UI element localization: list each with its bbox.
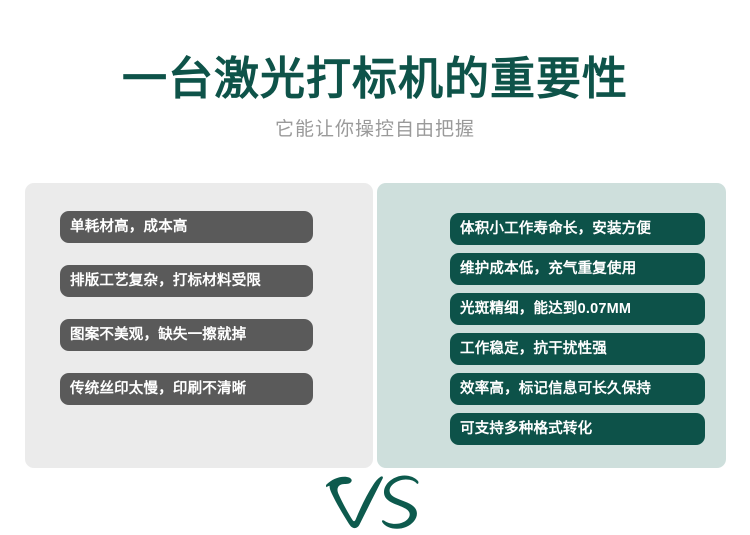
list-item: 可支持多种格式转化	[450, 413, 705, 445]
promo-banner: 一台激光打标机的重要性 它能让你操控自由把握 单耗材高，成本高 排版工艺复杂，打…	[0, 0, 750, 508]
page-subtitle: 它能让你操控自由把握	[0, 106, 750, 142]
list-item: 维护成本低，充气重复使用	[450, 253, 705, 285]
list-item: 光斑精细，能达到0.07MM	[450, 293, 705, 325]
list-item: 单耗材高，成本高	[60, 211, 313, 243]
list-item: 排版工艺复杂，打标材料受限	[60, 265, 313, 297]
list-item: 效率高，标记信息可长久保持	[450, 373, 705, 405]
right-pill-list: 体积小工作寿命长，安装方便 维护成本低，充气重复使用 光斑精细，能达到0.07M…	[450, 213, 705, 445]
list-item: 图案不美观，缺失一擦就掉	[60, 319, 313, 351]
header: 一台激光打标机的重要性 它能让你操控自由把握	[0, 0, 750, 142]
comparison-panel-left: 单耗材高，成本高 排版工艺复杂，打标材料受限 图案不美观，缺失一擦就掉 传统丝印…	[25, 183, 373, 468]
left-pill-list: 单耗材高，成本高 排版工艺复杂，打标材料受限 图案不美观，缺失一擦就掉 传统丝印…	[60, 211, 313, 405]
comparison-panel-right: 体积小工作寿命长，安装方便 维护成本低，充气重复使用 光斑精细，能达到0.07M…	[377, 183, 726, 468]
list-item: 传统丝印太慢，印刷不清晰	[60, 373, 313, 405]
list-item: 体积小工作寿命长，安装方便	[450, 213, 705, 245]
comparison-section: 单耗材高，成本高 排版工艺复杂，打标材料受限 图案不美观，缺失一擦就掉 传统丝印…	[0, 183, 750, 468]
list-item: 工作稳定，抗干扰性强	[450, 333, 705, 365]
page-title: 一台激光打标机的重要性	[0, 0, 750, 106]
